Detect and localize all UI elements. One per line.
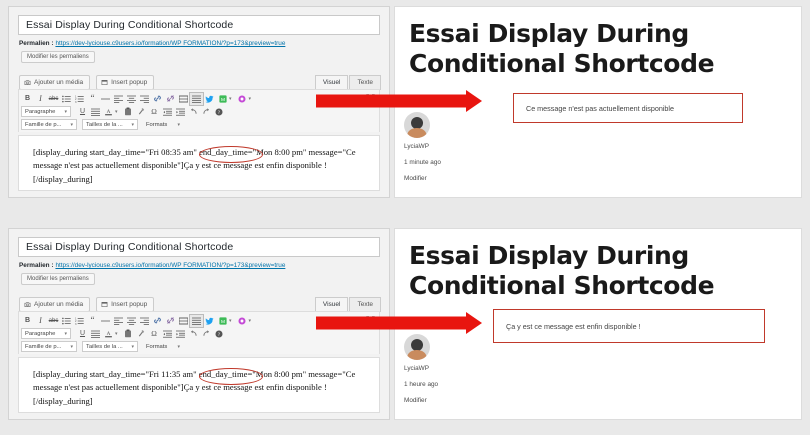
shortcode-text-part1: [display_during start_day_time=	[33, 369, 146, 379]
chevron-down-icon: ▾	[70, 344, 73, 350]
tab-text[interactable]: Texte	[349, 75, 381, 90]
remove-link-icon[interactable]	[164, 315, 177, 327]
align-right-icon[interactable]	[138, 315, 151, 327]
align-center-icon[interactable]	[125, 315, 138, 327]
tab-text-bottom[interactable]: Texte	[349, 297, 381, 312]
toolbar-row-3-bottom: Famille de p...▾ Tailles de la ...▾ Form…	[21, 340, 377, 353]
permalink-url-link-bottom[interactable]: https://dev-lyciouse.c9users.io/formatio…	[55, 262, 285, 269]
chevron-down-icon: ▾	[177, 122, 180, 128]
green-module-icon[interactable]: M	[216, 93, 229, 105]
font-size-value: Tailles de la ...	[86, 122, 123, 128]
shortcode-start-time-highlighted: "Fri 11:35 am"	[146, 369, 197, 379]
shortcode-start-time-highlighted: "Fri 08:35 am"	[146, 147, 197, 157]
svg-text:3: 3	[75, 321, 77, 324]
insert-popup-button-bottom[interactable]: Insert popup	[96, 297, 154, 312]
chevron-down-icon: ▾	[131, 344, 134, 350]
special-character-icon[interactable]: Ω	[148, 328, 161, 340]
editor-mode-tabs: Visuel Texte	[315, 75, 381, 90]
read-more-icon[interactable]	[177, 315, 190, 327]
blockquote-icon[interactable]: “	[86, 315, 99, 327]
paragraph-format-value: Paragraphe	[25, 331, 55, 337]
add-media-button[interactable]: Ajouter un média	[19, 75, 90, 90]
justify-text-icon[interactable]	[89, 328, 102, 340]
add-media-label: Ajouter un média	[34, 79, 83, 86]
preview-page-title-bottom: Essai Display During Conditional Shortco…	[409, 241, 789, 300]
align-right-icon[interactable]	[138, 93, 151, 105]
purple-module-icon[interactable]	[236, 315, 249, 327]
underline-icon[interactable]: U	[76, 106, 89, 118]
formats-select[interactable]: Formats▾	[143, 119, 183, 130]
font-size-value: Tailles de la ...	[86, 344, 123, 350]
toolbar-row-3: Famille de p...▾ Tailles de la ...▾ Form…	[21, 118, 377, 131]
align-left-icon[interactable]	[112, 93, 125, 105]
purple-module-caret-icon[interactable]: ▾	[249, 96, 256, 102]
media-button-bar-bottom: Ajouter un média Insert popup	[19, 297, 154, 312]
editor-content-area[interactable]: [display_during start_day_time="Fri 08:3…	[18, 135, 380, 191]
keyboard-shortcuts-icon[interactable]: ?	[213, 328, 226, 340]
editor-content-area-bottom[interactable]: [display_during start_day_time="Fri 11:3…	[18, 357, 380, 413]
permalink-row: Permalien :https://dev-lyciouse.c9users.…	[19, 40, 285, 47]
numbered-list-icon[interactable]: 123	[73, 315, 86, 327]
svg-text:A: A	[107, 331, 111, 337]
avatar-bottom	[404, 334, 430, 360]
preview-edit-link-bottom[interactable]: Modifier	[404, 397, 427, 404]
paragraph-format-select[interactable]: Paragraphe▾	[21, 106, 71, 117]
permalink-row-bottom: Permalien :https://dev-lyciouse.c9users.…	[19, 262, 285, 269]
tab-visual[interactable]: Visuel	[315, 75, 349, 90]
decrease-indent-icon[interactable]	[161, 106, 174, 118]
keyboard-shortcuts-icon[interactable]: ?	[213, 106, 226, 118]
undo-icon[interactable]	[187, 328, 200, 340]
undo-icon[interactable]	[187, 106, 200, 118]
horizontal-rule-icon[interactable]	[99, 315, 112, 327]
post-title-input[interactable]: Essai Display During Conditional Shortco…	[18, 15, 380, 35]
font-size-select[interactable]: Tailles de la ...▾	[82, 119, 138, 130]
arrow-head	[466, 90, 482, 112]
shortcode-text-part1: [display_during start_day_time=	[33, 147, 146, 157]
redo-icon[interactable]	[200, 106, 213, 118]
avatar-body	[407, 128, 426, 138]
svg-text:M: M	[221, 318, 225, 324]
insert-link-icon[interactable]	[151, 93, 164, 105]
text-color-icon[interactable]: A	[102, 328, 115, 340]
popup-icon	[101, 79, 108, 86]
arrow-shaft	[316, 95, 468, 108]
paste-as-text-icon[interactable]	[122, 328, 135, 340]
clear-formatting-icon[interactable]	[135, 328, 148, 340]
svg-text:A: A	[107, 109, 111, 115]
purple-module-caret-icon[interactable]: ▾	[249, 318, 256, 324]
editor-mode-tabs-bottom: Visuel Texte	[315, 297, 381, 312]
chevron-down-icon: ▾	[131, 122, 134, 128]
svg-text:3: 3	[75, 99, 77, 102]
text-color-icon[interactable]: A	[102, 106, 115, 118]
edit-permalink-button-bottom[interactable]: Modifier les permaliens	[21, 273, 95, 285]
chevron-down-icon: ▾	[70, 122, 73, 128]
add-media-label: Ajouter un média	[34, 301, 83, 308]
justify-icon[interactable]	[190, 93, 203, 105]
font-family-value: Famille de p...	[25, 344, 61, 350]
arrow-shaft	[316, 317, 468, 330]
twitter-icon[interactable]	[203, 315, 216, 327]
media-button-bar: Ajouter un média Insert popup	[19, 75, 154, 90]
popup-icon	[101, 301, 108, 308]
tab-visual-bottom[interactable]: Visuel	[315, 297, 349, 312]
preview-timestamp-top: 1 minute ago	[404, 159, 441, 166]
svg-text:?: ?	[218, 110, 220, 115]
strikethrough-icon[interactable]: abc	[47, 93, 60, 105]
blockquote-icon[interactable]: “	[86, 93, 99, 105]
horizontal-rule-icon[interactable]	[99, 93, 112, 105]
screenshot-root: Essai Display During Conditional Shortco…	[0, 0, 810, 435]
formats-value: Formats	[146, 122, 167, 128]
annotation-arrow-bottom	[316, 312, 482, 334]
decrease-indent-icon[interactable]	[161, 328, 174, 340]
annotation-arrow-top	[316, 90, 482, 112]
camera-icon	[24, 301, 31, 308]
svg-text:M: M	[221, 96, 225, 102]
twitter-icon[interactable]	[203, 93, 216, 105]
read-more-icon[interactable]	[177, 93, 190, 105]
bold-icon[interactable]: B	[21, 93, 34, 105]
paragraph-format-select-bottom[interactable]: Paragraphe▾	[21, 328, 71, 339]
avatar-body	[407, 350, 426, 360]
font-family-value: Famille de p...	[25, 122, 61, 128]
remove-link-icon[interactable]	[164, 93, 177, 105]
insert-popup-label: Insert popup	[111, 301, 147, 308]
bulleted-list-icon[interactable]	[60, 93, 73, 105]
paragraph-format-value: Paragraphe	[25, 109, 55, 115]
add-media-button-bottom[interactable]: Ajouter un média	[19, 297, 90, 312]
font-size-select-bottom[interactable]: Tailles de la ...▾	[82, 341, 138, 352]
formats-select-bottom[interactable]: Formats▾	[143, 341, 183, 352]
justify-text-icon[interactable]	[89, 106, 102, 118]
justify-icon[interactable]	[190, 315, 203, 327]
numbered-list-icon[interactable]: 123	[73, 93, 86, 105]
chevron-down-icon: ▾	[64, 109, 67, 115]
preview-timestamp-bottom: 1 heure ago	[404, 381, 438, 388]
arrow-head	[466, 312, 482, 334]
increase-indent-icon[interactable]	[174, 328, 187, 340]
bulleted-list-icon[interactable]	[60, 315, 73, 327]
purple-module-icon[interactable]	[236, 93, 249, 105]
insert-popup-label: Insert popup	[111, 79, 147, 86]
chevron-down-icon: ▾	[64, 331, 67, 337]
strikethrough-icon[interactable]: abc	[47, 315, 60, 327]
green-module-icon[interactable]: M	[216, 315, 229, 327]
italic-icon[interactable]: I	[34, 315, 47, 327]
font-family-select[interactable]: Famille de p...▾	[21, 119, 77, 130]
preview-message-box-top: Ce message n'est pas actuellement dispon…	[513, 93, 743, 123]
special-character-icon[interactable]: Ω	[148, 106, 161, 118]
preview-page-title-top: Essai Display During Conditional Shortco…	[409, 19, 789, 78]
insert-popup-button[interactable]: Insert popup	[96, 75, 154, 90]
permalink-label-bottom: Permalien :	[19, 262, 53, 269]
align-center-icon[interactable]	[125, 93, 138, 105]
bold-icon[interactable]: B	[21, 315, 34, 327]
underline-icon[interactable]: U	[76, 328, 89, 340]
paste-as-text-icon[interactable]	[122, 106, 135, 118]
preview-author-top: LyciaWP	[404, 143, 429, 150]
preview-message-box-bottom: Ça y est ce message est enfin disponible…	[493, 309, 765, 343]
preview-edit-link-top[interactable]: Modifier	[404, 175, 427, 182]
permalink-label: Permalien :	[19, 40, 53, 47]
edit-permalink-button[interactable]: Modifier les permaliens	[21, 51, 95, 63]
svg-text:?: ?	[218, 332, 220, 337]
align-left-icon[interactable]	[112, 315, 125, 327]
avatar-top	[404, 112, 430, 138]
preview-author-bottom: LyciaWP	[404, 365, 429, 372]
permalink-url-link[interactable]: https://dev-lyciouse.c9users.io/formatio…	[55, 40, 285, 47]
camera-icon	[24, 79, 31, 86]
increase-indent-icon[interactable]	[174, 106, 187, 118]
formats-value: Formats	[146, 344, 167, 350]
post-title-input-bottom[interactable]: Essai Display During Conditional Shortco…	[18, 237, 380, 257]
redo-icon[interactable]	[200, 328, 213, 340]
italic-icon[interactable]: I	[34, 93, 47, 105]
font-family-select-bottom[interactable]: Famille de p...▾	[21, 341, 77, 352]
insert-link-icon[interactable]	[151, 315, 164, 327]
chevron-down-icon: ▾	[177, 344, 180, 350]
clear-formatting-icon[interactable]	[135, 106, 148, 118]
